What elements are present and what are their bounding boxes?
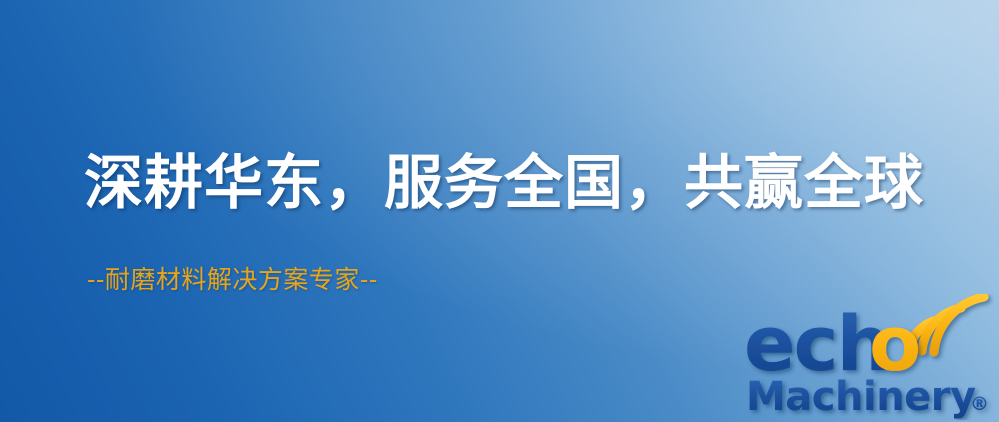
banner-subheadline: --耐磨材料解决方案专家-- <box>87 266 378 294</box>
banner-headline: 深耕华东，服务全国，共赢全球 <box>84 152 924 215</box>
promo-banner: 深耕华东，服务全国，共赢全球 --耐磨材料解决方案专家-- <box>0 0 999 422</box>
logo-wordmark-machinery: Machinery <box>746 374 976 420</box>
logo-registered-mark: ® <box>970 393 989 415</box>
echo-machinery-logo: ech o Machinery ® <box>742 294 994 420</box>
